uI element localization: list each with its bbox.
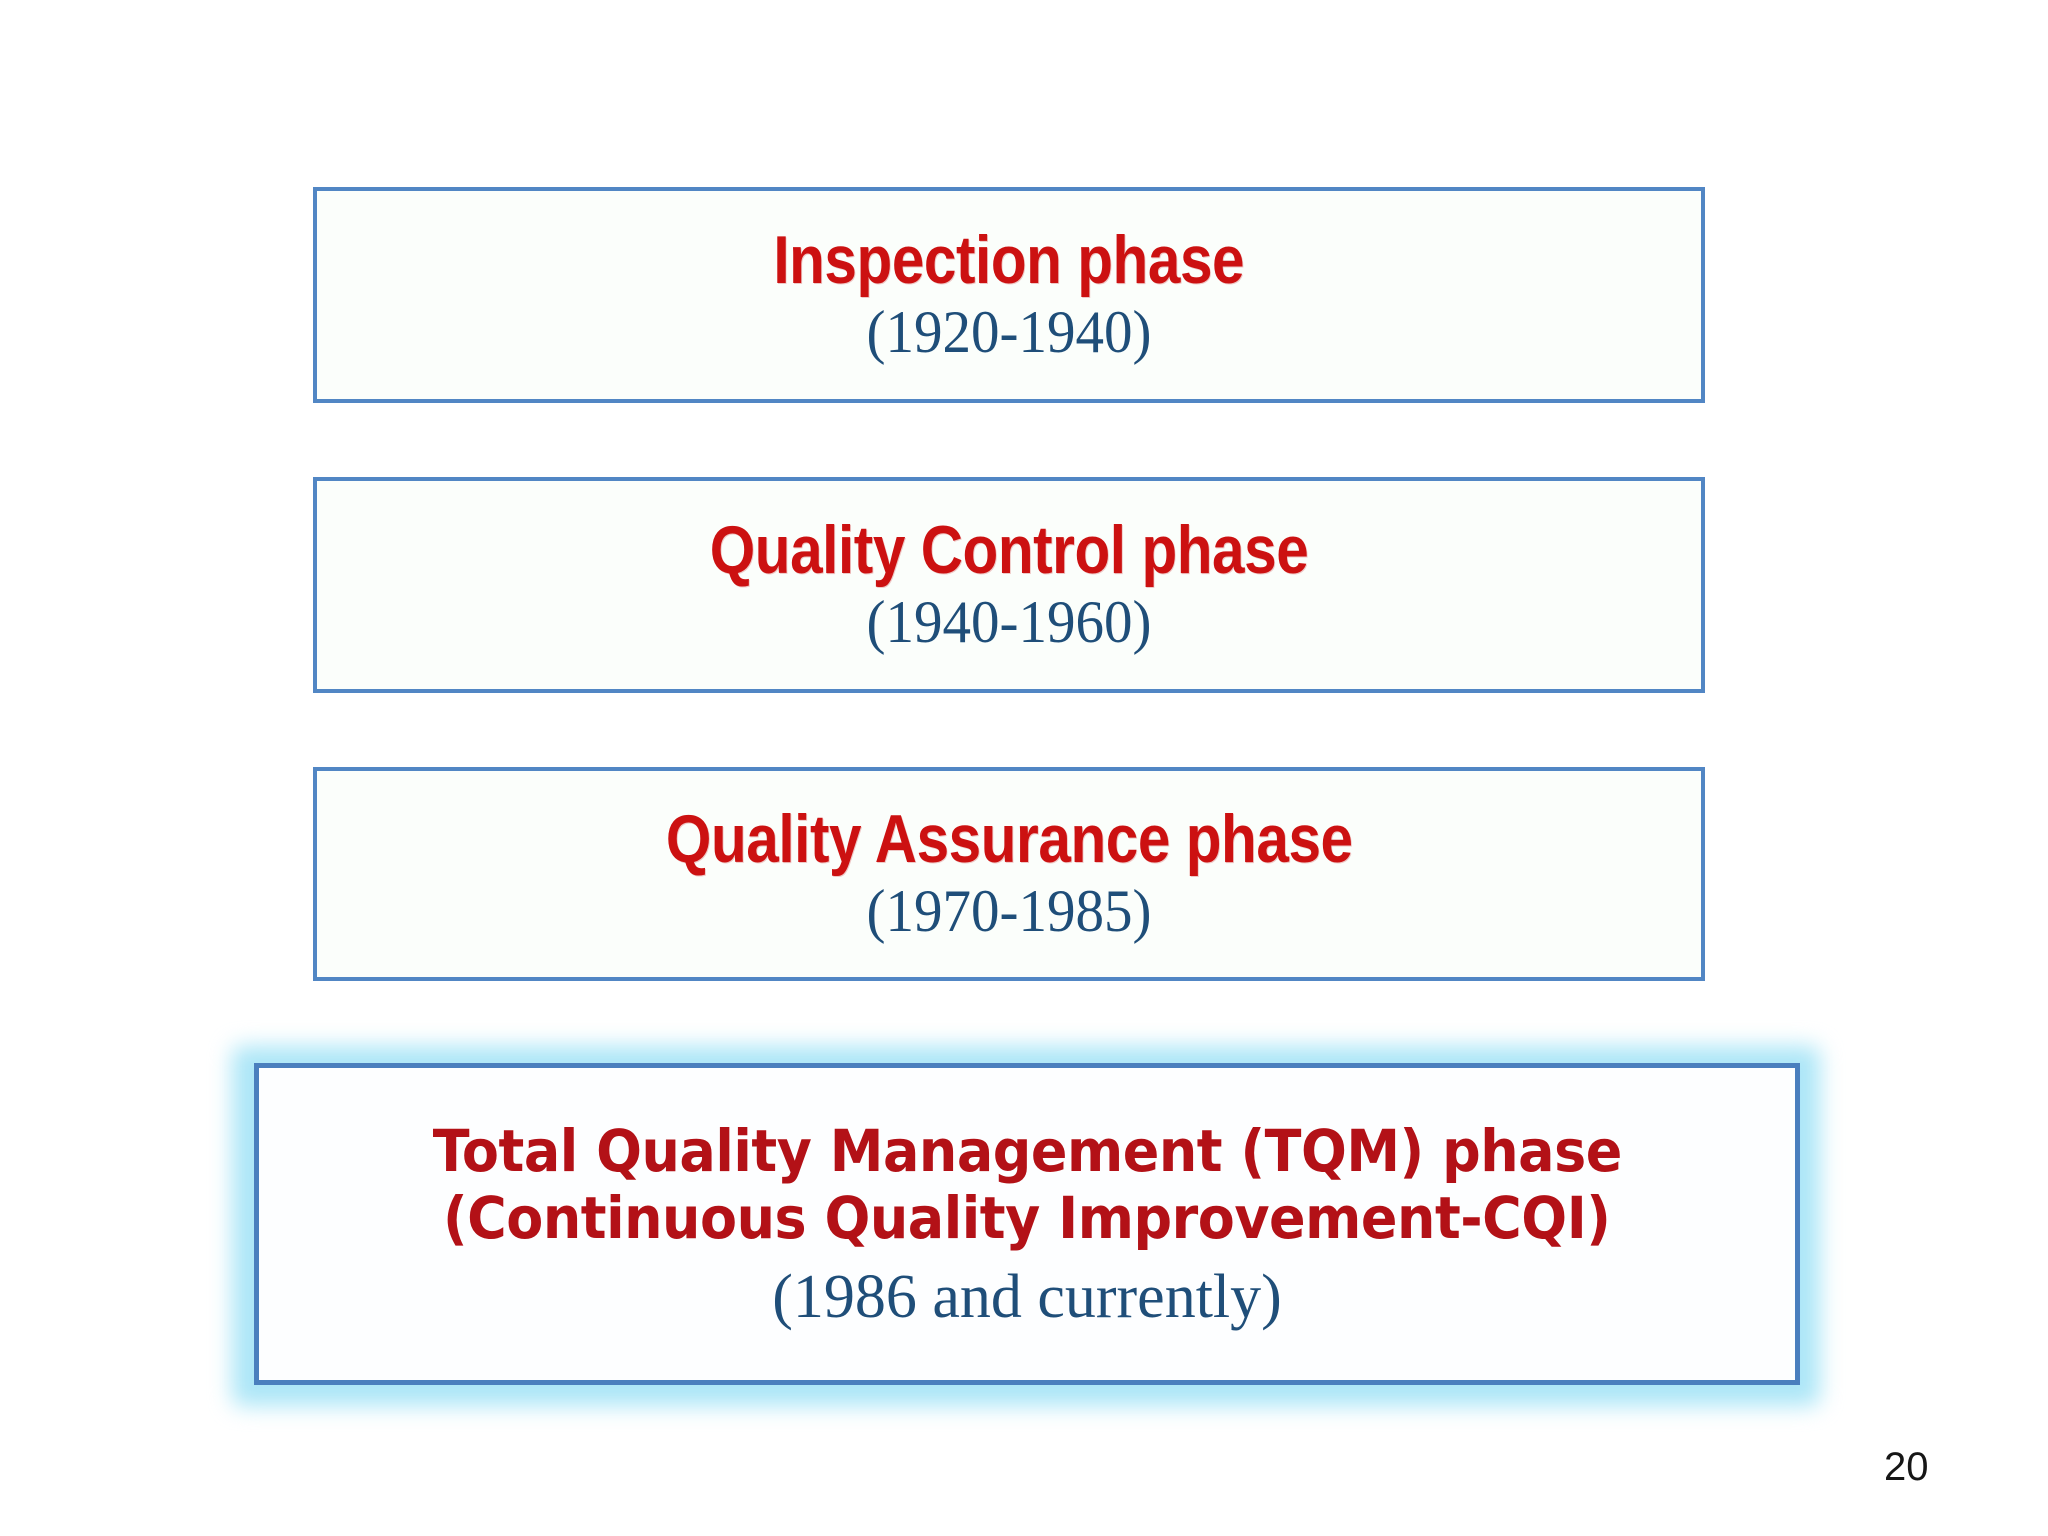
phase-box-tqm[interactable]: Total Quality Management (TQM) phase (Co…	[254, 1063, 1800, 1385]
phase-title-quality-assurance: Quality Assurance phase	[666, 805, 1353, 874]
phase-title-quality-control: Quality Control phase	[710, 516, 1309, 585]
page-number: 20	[1884, 1447, 1944, 1487]
phase-title-tqm-line2: (Continuous Quality Improvement-CQI)	[443, 1185, 1611, 1252]
phase-dates-inspection: (1920-1940)	[867, 301, 1152, 364]
slide-canvas: Inspection phase (1920-1940) Quality Con…	[0, 0, 2048, 1536]
phase-box-inspection[interactable]: Inspection phase (1920-1940)	[313, 187, 1705, 403]
phase-box-quality-control[interactable]: Quality Control phase (1940-1960)	[313, 477, 1705, 693]
phase-box-tqm-wrapper: Total Quality Management (TQM) phase (Co…	[218, 1032, 1834, 1420]
phase-title-tqm-line1: Total Quality Management (TQM) phase	[432, 1118, 1621, 1185]
phase-dates-tqm: (1986 and currently)	[772, 1265, 1282, 1330]
phase-dates-quality-control: (1940-1960)	[867, 591, 1152, 654]
phase-box-quality-assurance[interactable]: Quality Assurance phase (1970-1985)	[313, 767, 1705, 981]
phase-dates-quality-assurance: (1970-1985)	[867, 880, 1152, 943]
phase-title-inspection: Inspection phase	[774, 226, 1245, 295]
